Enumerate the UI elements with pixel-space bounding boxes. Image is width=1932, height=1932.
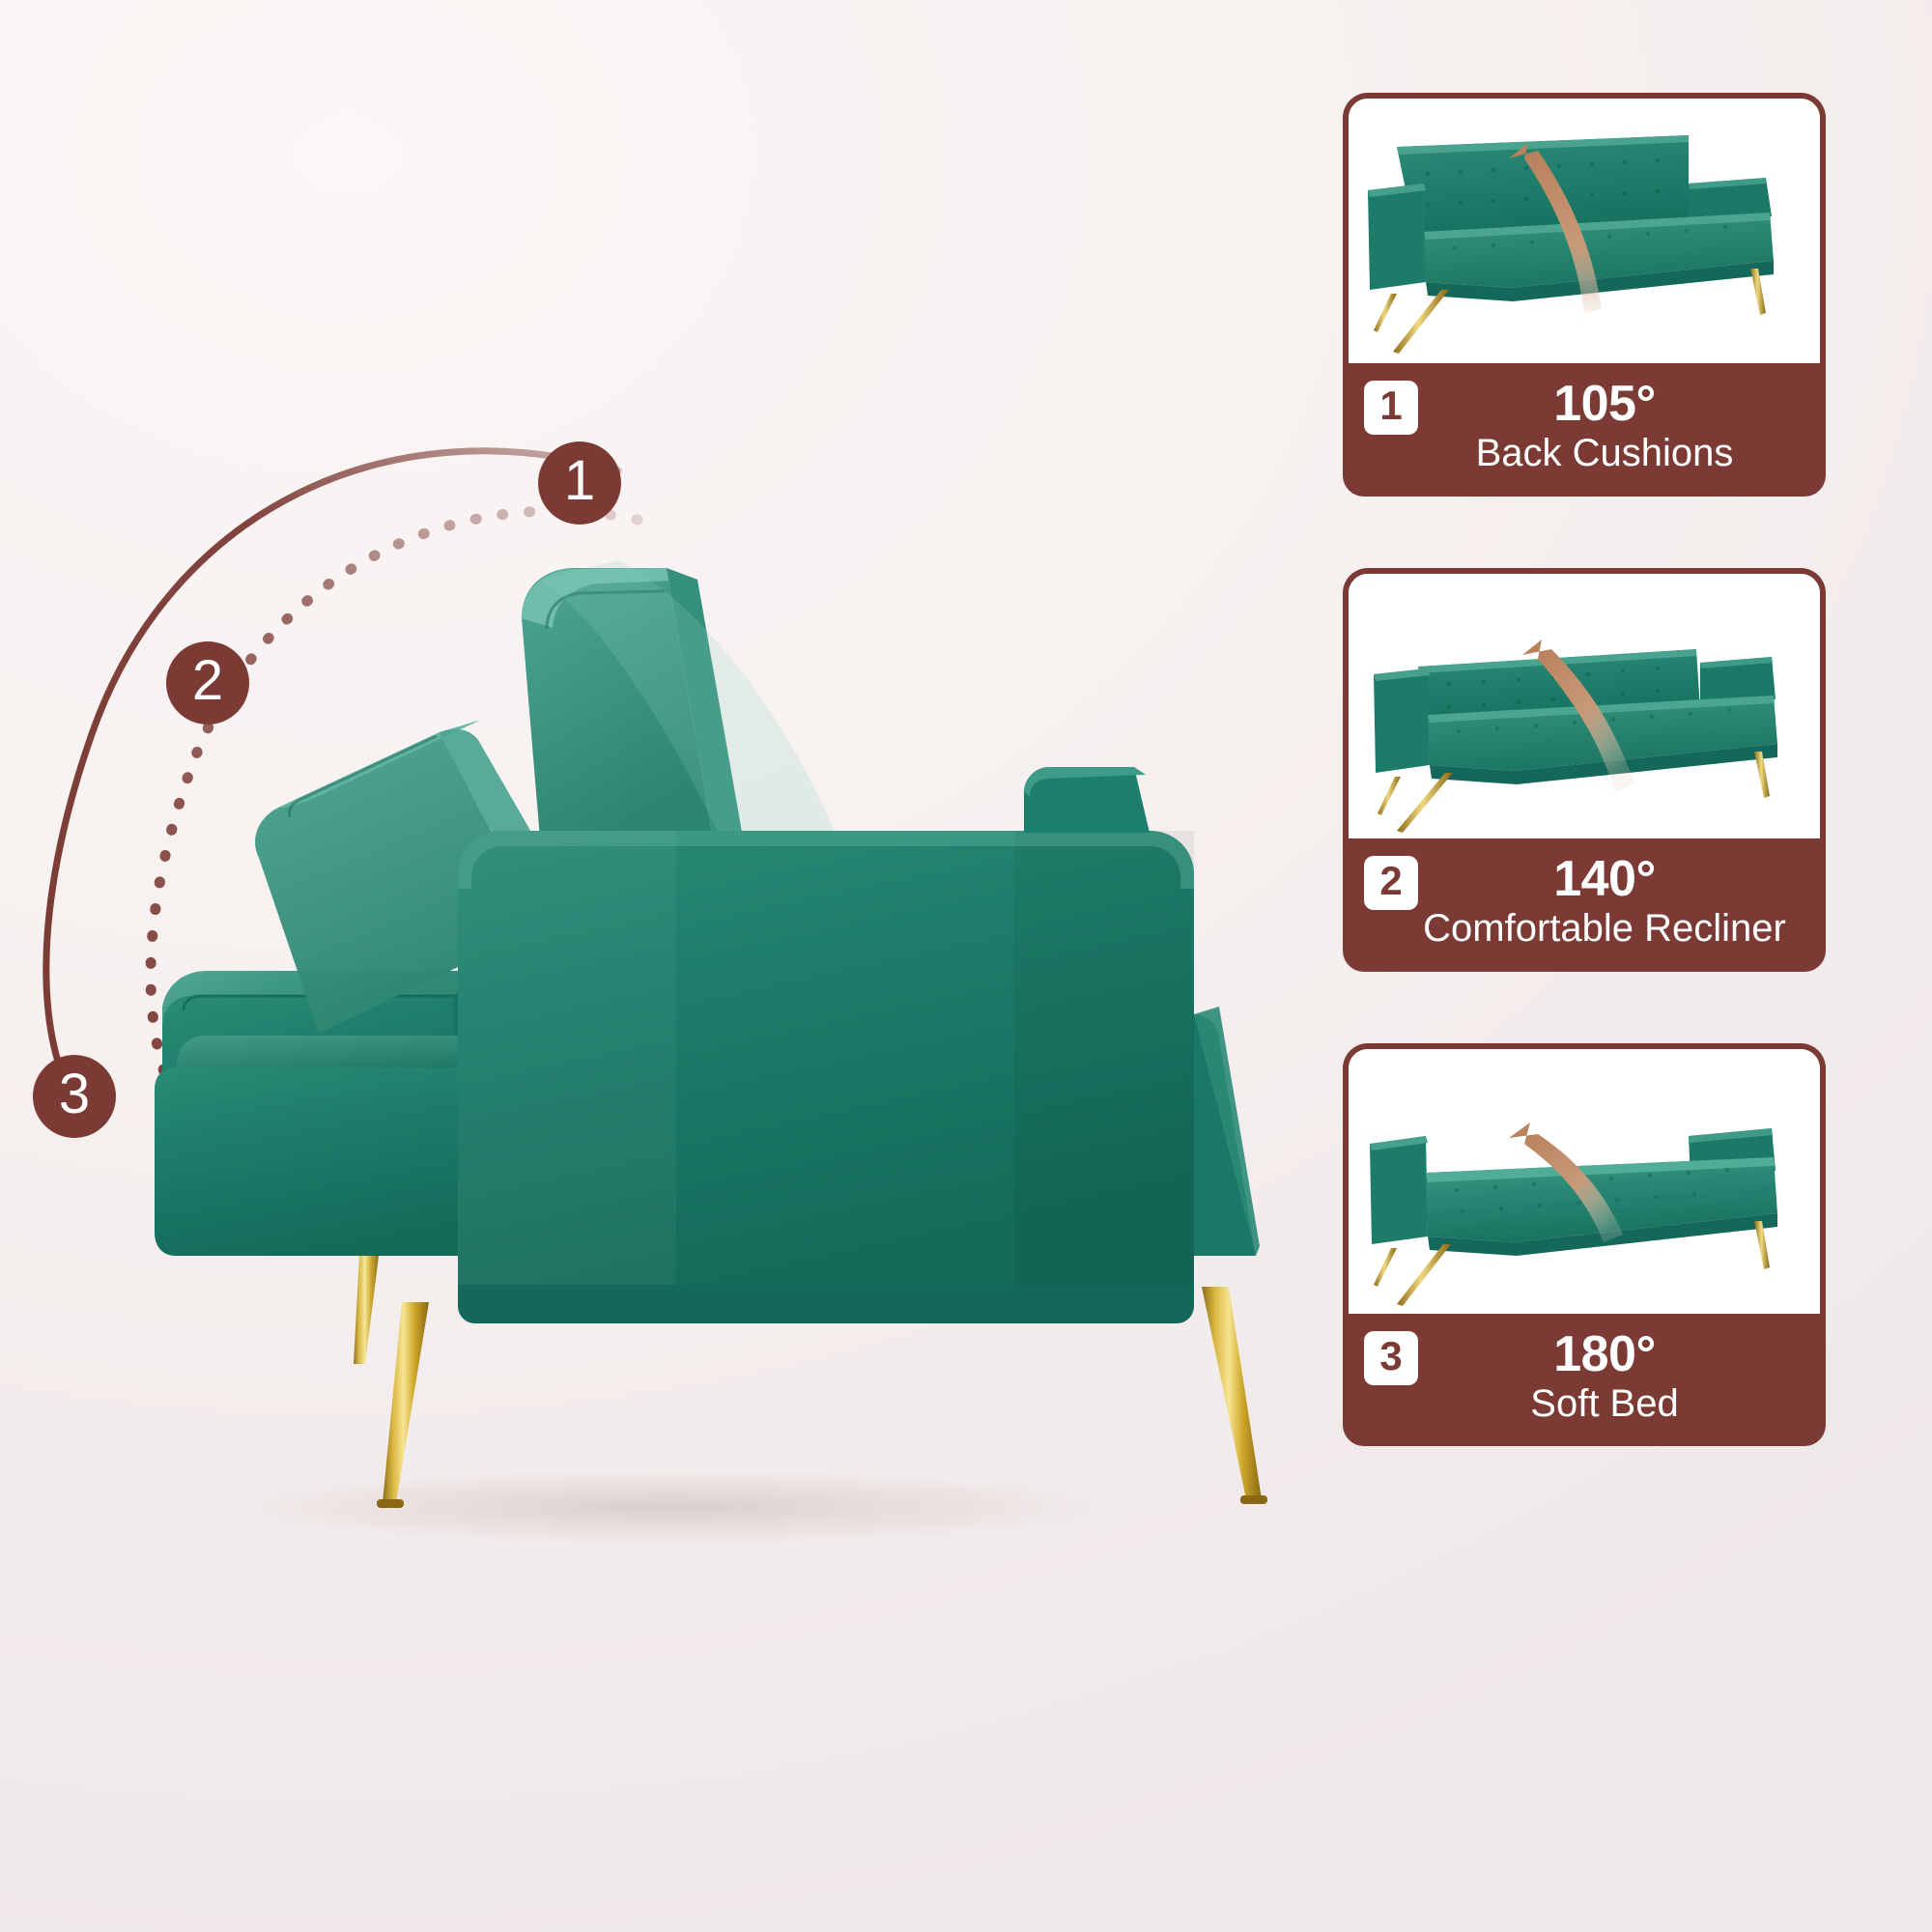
card-3-label: Soft Bed [1405,1382,1804,1426]
feature-card-list: 1 105° Back Cushions [1331,0,1932,1932]
card-2-badge-number: 2 [1379,861,1402,901]
card-soft-bed: 3 180° Soft Bed [1343,1043,1826,1447]
step-marker-2: 2 [166,641,249,724]
step-marker-1: 1 [538,441,621,525]
card-1-label: Back Cushions [1405,432,1804,475]
card-2-caption: 2 140° Comfortable Recliner [1343,838,1826,972]
card-comfortable-recliner: 2 140° Comfortable Recliner [1343,568,1826,972]
card-1-photo [1343,93,1826,363]
card-2-label: Comfortable Recliner [1405,907,1804,951]
sofa-back-rail [1024,767,1150,833]
infographic-canvas: 1 2 3 [0,0,1932,1932]
step-marker-3: 3 [33,1055,116,1138]
step-marker-3-label: 3 [59,1066,90,1122]
card-back-cushions: 1 105° Back Cushions [1343,93,1826,497]
floor-shadow [213,1468,1121,1546]
card-3-badge-number: 3 [1379,1336,1402,1377]
sofa-right-armrest [1194,1007,1260,1256]
card-3-angle: 180° [1405,1329,1804,1380]
card-1-angle: 105° [1405,379,1804,430]
step-marker-2-label: 2 [192,653,223,709]
sofa-flat-bed-photo-svg [1349,1049,1822,1310]
card-3-photo [1343,1043,1826,1314]
sofa-side-arm-panel [458,831,1194,1323]
card-1-badge-number: 1 [1379,385,1402,426]
main-illustration: 1 2 3 [0,0,1333,1932]
card-2-photo [1343,568,1826,838]
sofa-side-view-svg [0,0,1333,1932]
sofa-reclined-photo-svg [1349,574,1822,835]
card-1-caption: 1 105° Back Cushions [1343,363,1826,497]
card-3-caption: 3 180° Soft Bed [1343,1314,1826,1447]
sofa-upright-photo-svg [1349,99,1822,359]
card-2-angle: 140° [1405,854,1804,905]
step-marker-1-label: 1 [564,453,595,509]
